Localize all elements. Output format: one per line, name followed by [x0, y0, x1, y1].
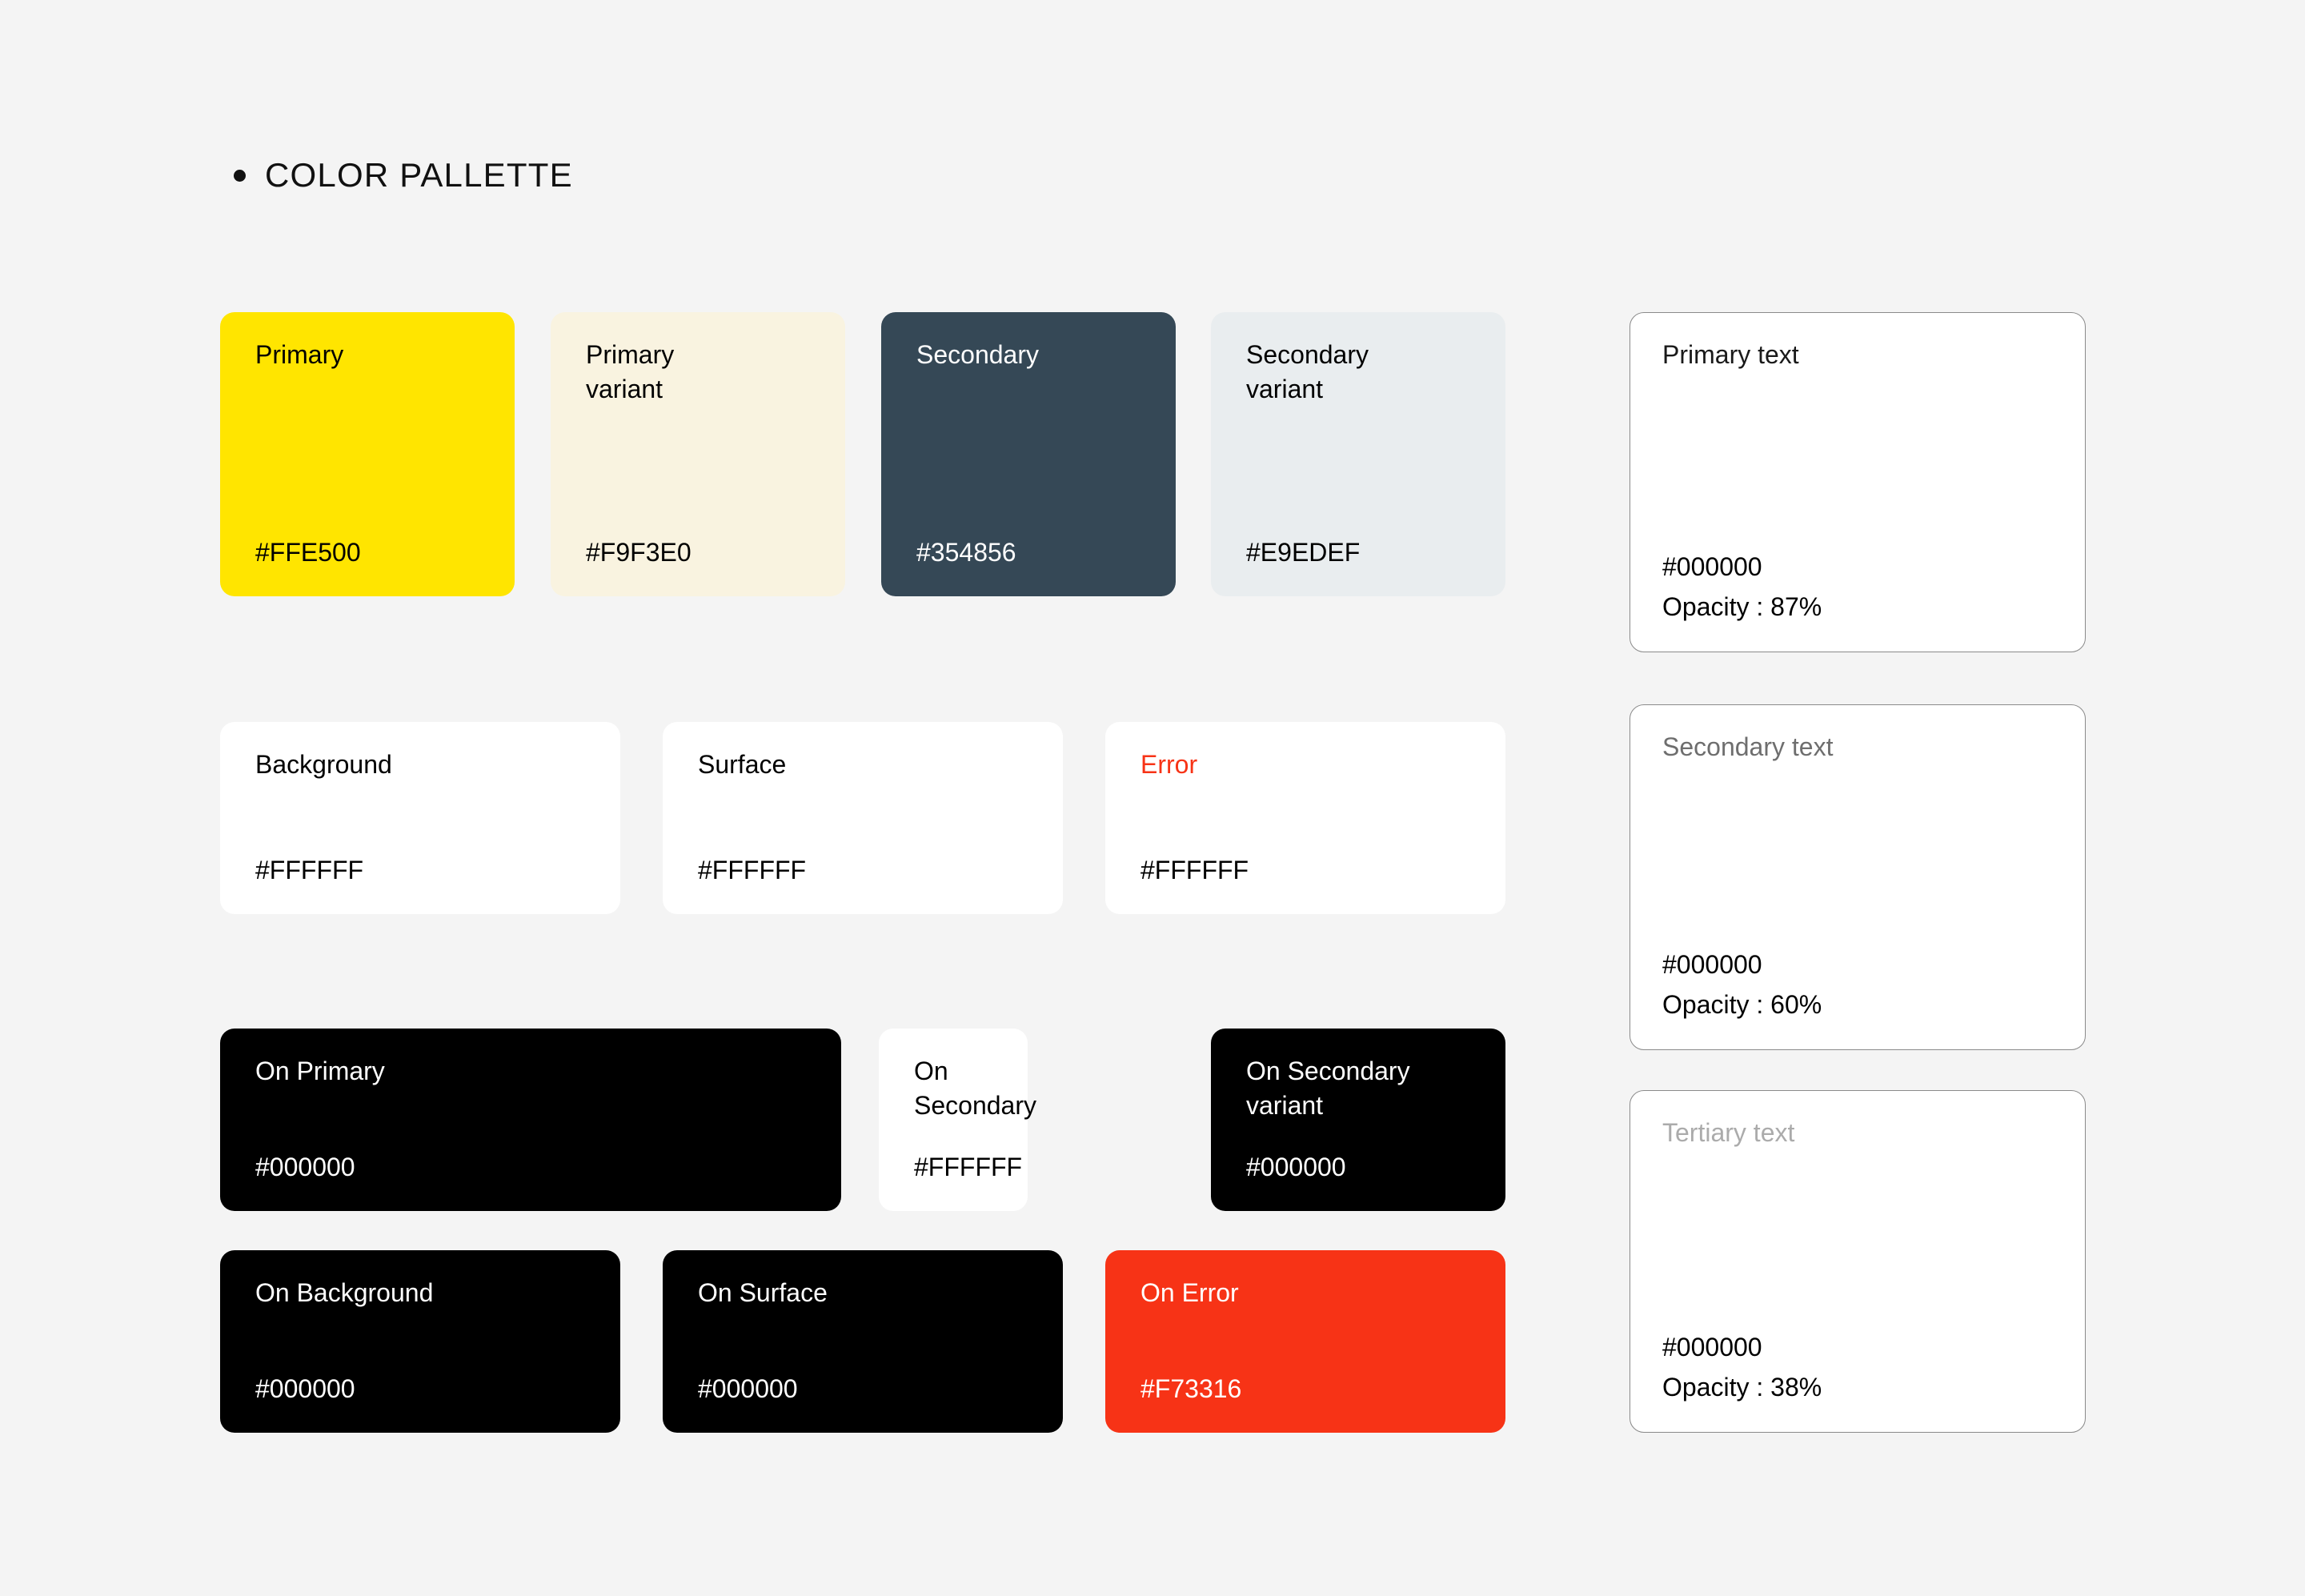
page-title-row: COLOR PALLETTE — [234, 156, 573, 194]
swatch-label: Secondary variant — [1246, 338, 1470, 407]
text-style-values: #000000 Opacity : 38% — [1662, 1331, 2053, 1403]
text-style-label: Primary text — [1662, 339, 2053, 371]
text-style-hex: #000000 — [1662, 1331, 2053, 1363]
swatch-label: On Background — [255, 1276, 585, 1310]
text-style-label: Secondary text — [1662, 731, 2053, 763]
swatch-hex: #354856 — [916, 537, 1140, 567]
swatch-card-surface[interactable]: Surface #FFFFFF — [663, 722, 1063, 914]
text-style-opacity: Opacity : 38% — [1662, 1371, 2053, 1403]
swatch-label: Surface — [698, 748, 1028, 782]
swatch-label: On Error — [1140, 1276, 1470, 1310]
swatch-label: Error — [1140, 748, 1470, 782]
swatch-card-primary-variant[interactable]: Primary variant #F9F3E0 — [551, 312, 845, 596]
swatch-card-primary[interactable]: Primary #FFE500 — [220, 312, 515, 596]
page-title: COLOR PALLETTE — [265, 156, 573, 194]
swatch-hex: #FFFFFF — [1140, 855, 1470, 885]
text-style-card-primary-text[interactable]: Primary text #000000 Opacity : 87% — [1630, 312, 2086, 652]
text-style-hex: #000000 — [1662, 948, 2053, 980]
text-style-values: #000000 Opacity : 87% — [1662, 551, 2053, 623]
swatch-card-on-surface[interactable]: On Surface #000000 — [663, 1250, 1063, 1433]
text-style-card-secondary-text[interactable]: Secondary text #000000 Opacity : 60% — [1630, 704, 2086, 1050]
swatch-hex: #000000 — [255, 1152, 806, 1182]
swatch-hex: #000000 — [255, 1373, 585, 1404]
swatch-hex: #FFFFFF — [698, 855, 1028, 885]
text-style-opacity: Opacity : 87% — [1662, 591, 2053, 623]
swatch-hex: #FFFFFF — [255, 855, 585, 885]
swatch-label: On Secondary — [914, 1054, 992, 1123]
swatch-hex: #F73316 — [1140, 1373, 1470, 1404]
swatch-label: Primary variant — [586, 338, 810, 407]
swatch-card-secondary-variant[interactable]: Secondary variant #E9EDEF — [1211, 312, 1505, 596]
swatch-card-on-secondary[interactable]: On Secondary #FFFFFF — [879, 1029, 1028, 1211]
swatch-card-secondary[interactable]: Secondary #354856 — [881, 312, 1176, 596]
swatch-label: Background — [255, 748, 585, 782]
swatch-label: On Primary — [255, 1054, 806, 1089]
swatch-card-error[interactable]: Error #FFFFFF — [1105, 722, 1505, 914]
swatch-hex: #000000 — [1246, 1152, 1470, 1182]
swatch-hex: #FFE500 — [255, 537, 479, 567]
swatch-hex: #000000 — [698, 1373, 1028, 1404]
bullet-dot-icon — [234, 170, 246, 182]
text-style-label: Tertiary text — [1662, 1117, 2053, 1149]
swatch-label: On Surface — [698, 1276, 1028, 1310]
swatch-card-on-secondary-variant[interactable]: On Secondary variant #000000 — [1211, 1029, 1505, 1211]
swatch-card-on-primary[interactable]: On Primary #000000 — [220, 1029, 841, 1211]
swatch-hex: #FFFFFF — [914, 1152, 992, 1182]
swatch-card-on-error[interactable]: On Error #F73316 — [1105, 1250, 1505, 1433]
swatch-hex: #E9EDEF — [1246, 537, 1470, 567]
text-style-opacity: Opacity : 60% — [1662, 988, 2053, 1021]
text-style-values: #000000 Opacity : 60% — [1662, 948, 2053, 1021]
swatch-card-background[interactable]: Background #FFFFFF — [220, 722, 620, 914]
swatch-card-on-background[interactable]: On Background #000000 — [220, 1250, 620, 1433]
swatch-label: Secondary — [916, 338, 1140, 372]
color-palette-page: COLOR PALLETTE Primary #FFE500 Primary v… — [0, 0, 2305, 1596]
swatch-label: Primary — [255, 338, 479, 372]
text-style-hex: #000000 — [1662, 551, 2053, 583]
swatch-label: On Secondary variant — [1246, 1054, 1470, 1123]
swatch-hex: #F9F3E0 — [586, 537, 810, 567]
text-style-card-tertiary-text[interactable]: Tertiary text #000000 Opacity : 38% — [1630, 1090, 2086, 1433]
